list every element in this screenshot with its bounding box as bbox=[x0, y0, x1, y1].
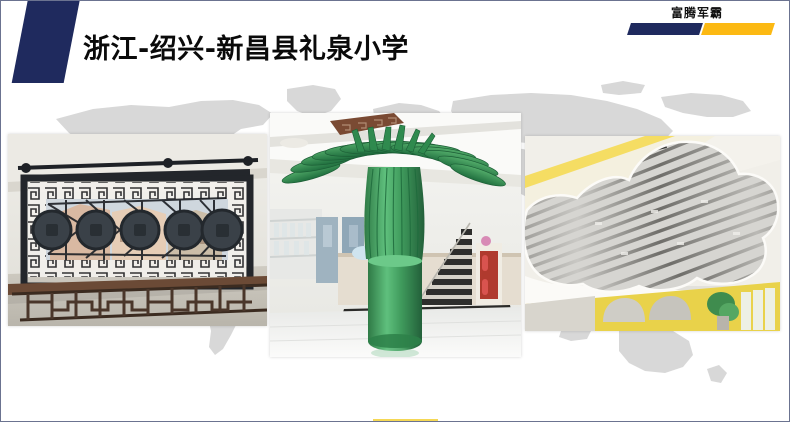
brand-logo-gold-bar bbox=[701, 23, 775, 35]
curved-baffle-ceiling-photo bbox=[525, 136, 780, 331]
title-accent-shape bbox=[12, 0, 80, 83]
brand-logo-navy-bar bbox=[627, 23, 703, 35]
slide-header: 浙江-绍兴-新昌县礼泉小学 富腾军霸 bbox=[1, 1, 790, 93]
brand-logo: 富腾军霸 bbox=[621, 4, 773, 38]
slide-canvas: 浙江-绍兴-新昌县礼泉小学 富腾军霸 bbox=[0, 0, 790, 422]
page-title: 浙江-绍兴-新昌县礼泉小学 bbox=[83, 27, 409, 66]
brand-logo-text: 富腾军霸 bbox=[621, 4, 773, 21]
chinese-lattice-railing-photo bbox=[8, 134, 267, 326]
green-tree-column-photo bbox=[270, 113, 521, 357]
